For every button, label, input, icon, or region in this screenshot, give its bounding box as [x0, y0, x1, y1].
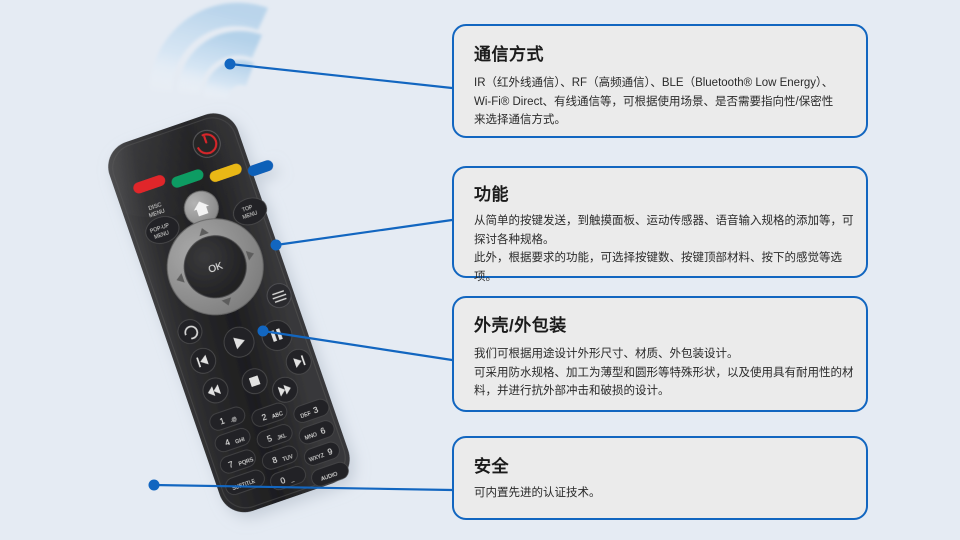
- card-housing-packaging[interactable]: 外壳/外包装 我们可根据用途设计外形尺寸、材质、外包装设计。 可采用防水规格、加…: [452, 296, 868, 412]
- card-title: 外壳/外包装: [474, 311, 567, 336]
- card-communication[interactable]: 通信方式 IR（红外线通信）、RF（高频通信）、BLE（Bluetooth® L…: [452, 24, 868, 138]
- card-body: 我们可根据用途设计外形尺寸、材质、外包装设计。 可采用防水规格、加工为薄型和圆形…: [474, 345, 862, 401]
- card-title: 通信方式: [474, 40, 544, 65]
- card-security[interactable]: 安全 可内置先进的认证技术。: [452, 436, 868, 520]
- wireless-signal-waves: [150, 3, 268, 98]
- card-function[interactable]: 功能 从简单的按键发送，到触摸面板、运动传感器、语音输入规格的添加等，可 探讨各…: [452, 166, 868, 278]
- card-body: 可内置先进的认证技术。: [474, 484, 862, 503]
- card-body: 从简单的按键发送，到触摸面板、运动传感器、语音输入规格的添加等，可 探讨各种规格…: [474, 212, 862, 287]
- remote-control-body: DISC MENU POP-UP MENU TOP MENU OK: [101, 99, 377, 519]
- card-title: 功能: [474, 180, 509, 205]
- card-body: IR（红外线通信）、RF（高频通信）、BLE（Bluetooth® Low En…: [474, 74, 856, 130]
- infographic-stage: DISC MENU POP-UP MENU TOP MENU OK: [0, 0, 960, 540]
- card-title: 安全: [474, 452, 509, 477]
